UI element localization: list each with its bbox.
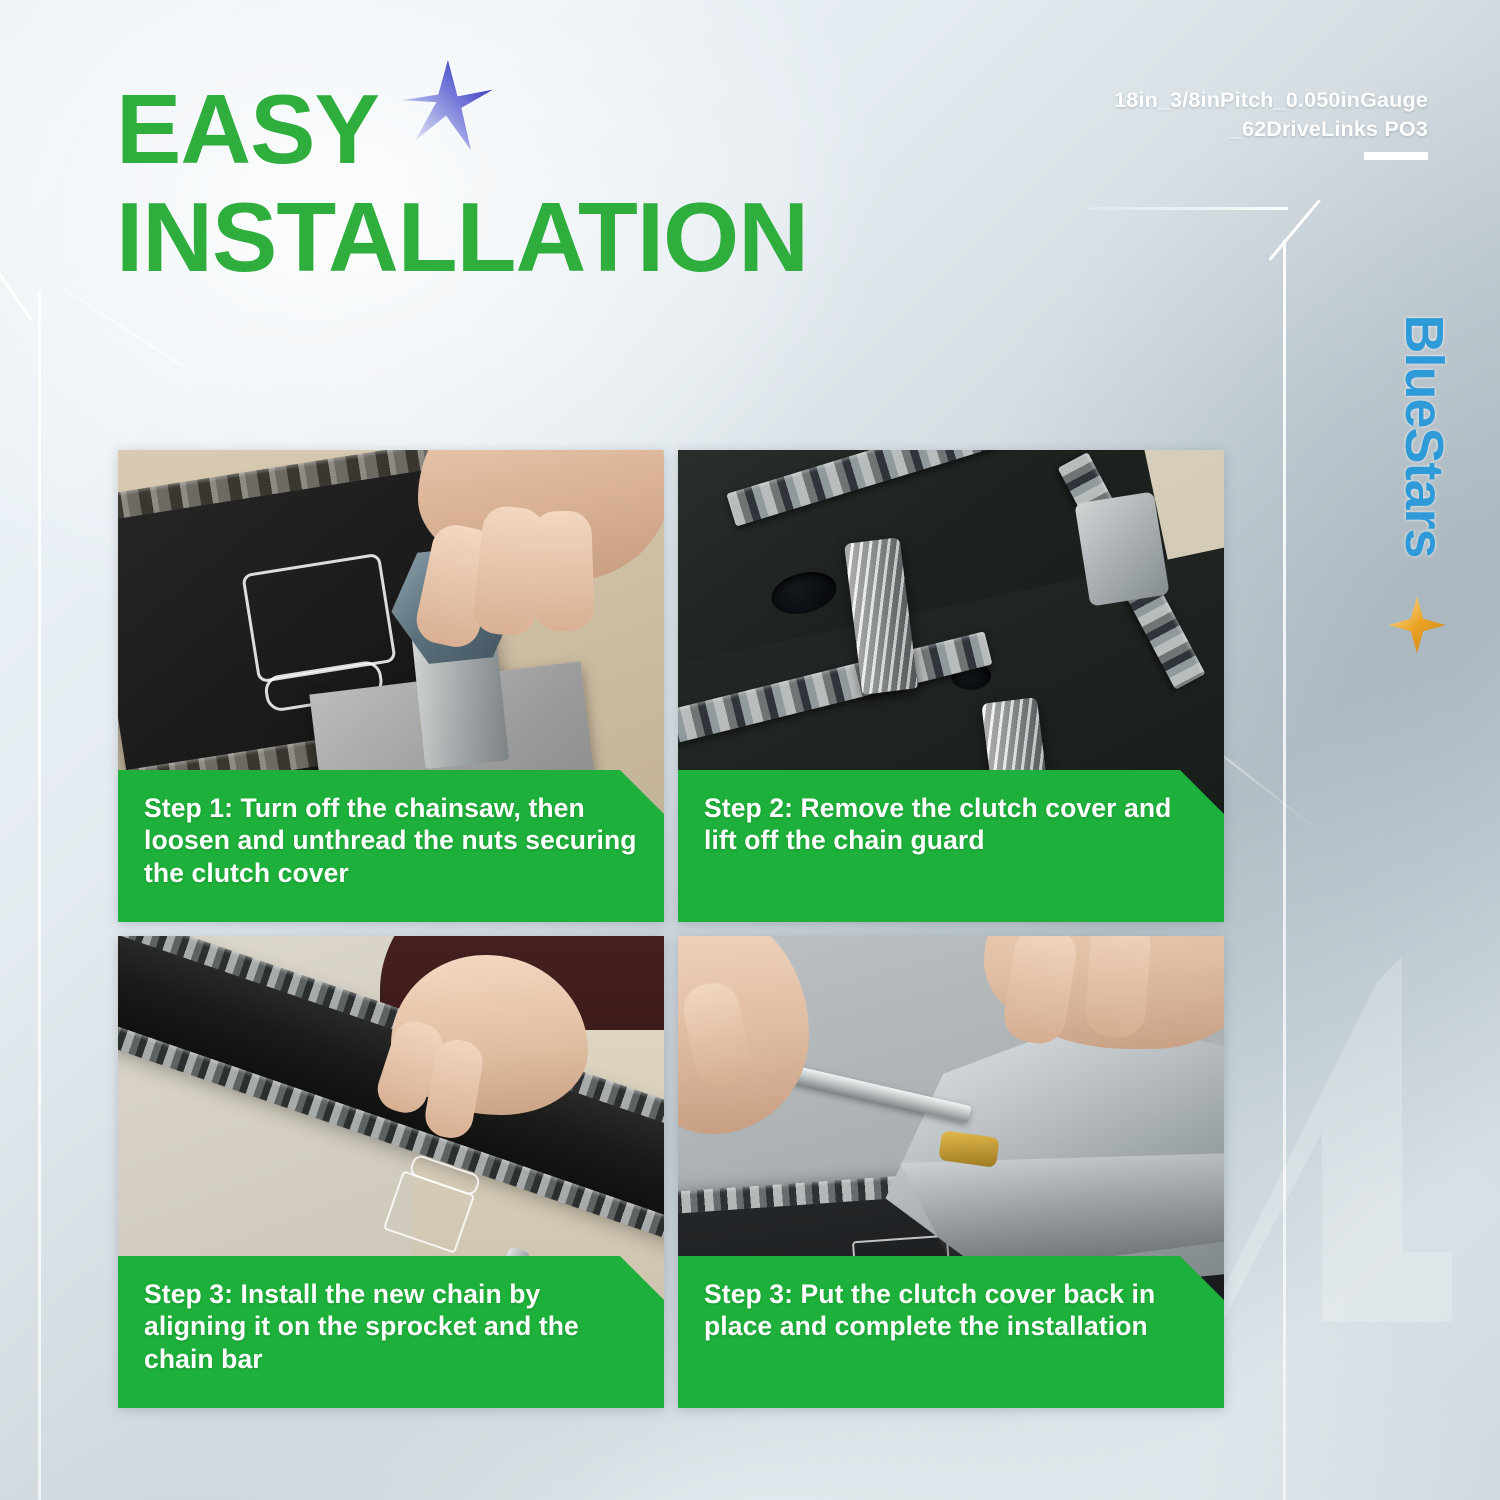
brand-star-icon bbox=[1386, 594, 1448, 656]
step-panel-1[interactable]: Step 1: Turn off the chainsaw, then loos… bbox=[118, 450, 664, 922]
infographic-page: EASY INSTALLATION 18in_3/8inPitch_0.050i… bbox=[0, 0, 1500, 1500]
step-4-caption: Step 3: Put the clutch cover back in pla… bbox=[678, 1256, 1224, 1408]
frame-line-left bbox=[38, 292, 41, 1500]
frame-corner-top-left bbox=[0, 178, 33, 321]
frame-line-right bbox=[1283, 240, 1286, 1500]
step-2-label: Step 2: bbox=[704, 793, 793, 823]
sku-code: 18in_3/8inPitch_0.050inGauge _62DriveLin… bbox=[1114, 86, 1428, 160]
frame-line-top bbox=[1088, 207, 1288, 210]
step-2-caption: Step 2: Remove the clutch cover and lift… bbox=[678, 770, 1224, 922]
step-4-label: Step 3: bbox=[704, 1279, 793, 1309]
four-point-star-icon bbox=[398, 58, 494, 154]
step-1-label: Step 1: bbox=[144, 793, 233, 823]
step-panel-4[interactable]: Step 3: Put the clutch cover back in pla… bbox=[678, 936, 1224, 1408]
brand-logo-text: BlueStars bbox=[1393, 314, 1455, 557]
sku-underline-bar bbox=[1364, 152, 1428, 160]
step-3-caption: Step 3: Install the new chain by alignin… bbox=[118, 1256, 664, 1408]
step-panel-3[interactable]: Step 3: Install the new chain by alignin… bbox=[118, 936, 664, 1408]
step-1-caption: Step 1: Turn off the chainsaw, then loos… bbox=[118, 770, 664, 922]
sku-line-2: _62DriveLinks PO3 bbox=[1114, 115, 1428, 144]
title-line-2: INSTALLATION bbox=[116, 190, 808, 284]
background-watermark-shape bbox=[1202, 952, 1452, 1382]
brand-logo: BlueStars bbox=[1392, 236, 1456, 636]
step-3-label: Step 3: bbox=[144, 1279, 233, 1309]
step-panel-2[interactable]: Step 2: Remove the clutch cover and lift… bbox=[678, 450, 1224, 922]
sku-line-1: 18in_3/8inPitch_0.050inGauge bbox=[1114, 86, 1428, 115]
steps-grid: Step 1: Turn off the chainsaw, then loos… bbox=[118, 450, 1224, 1410]
frame-corner-top-right bbox=[1268, 199, 1320, 261]
